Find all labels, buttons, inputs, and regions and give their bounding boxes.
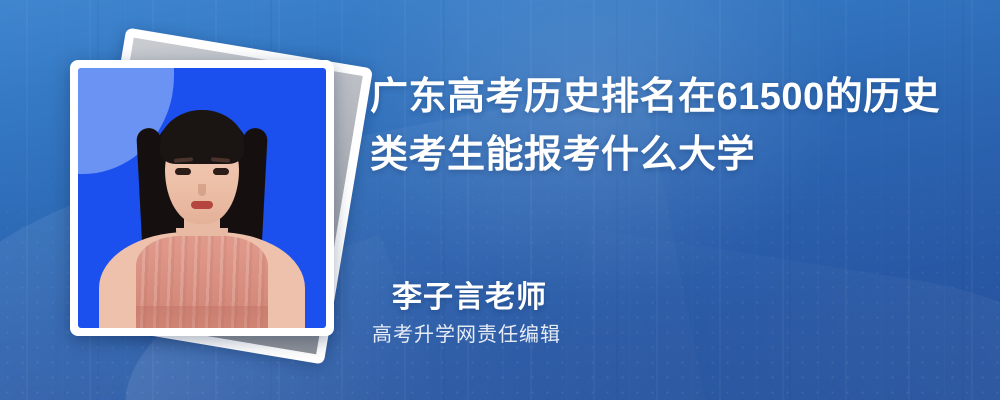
author-portrait-photo [78,68,326,328]
portrait-dress-waistband [136,306,268,328]
portrait-eye-left [175,168,191,175]
article-header-banner: 广东高考历史排名在61500的历史类考生能报考什么大学 李子言老师 高考升学网责… [0,0,1000,400]
author-photo-stack [58,40,368,360]
portrait-figure [87,96,317,328]
photo-card-front [70,60,334,336]
page-title: 广东高考历史排名在61500的历史类考生能报考什么大学 [370,68,970,184]
author-role: 高考升学网责任编辑 [372,318,561,347]
portrait-eye-right [213,168,229,175]
author-name: 李子言老师 [392,272,547,316]
portrait-nose [198,184,206,196]
banner-text-content: 广东高考历史排名在61500的历史类考生能报考什么大学 李子言老师 高考升学网责… [370,0,1000,400]
portrait-hair-front [160,110,244,164]
portrait-mouth [191,201,213,209]
